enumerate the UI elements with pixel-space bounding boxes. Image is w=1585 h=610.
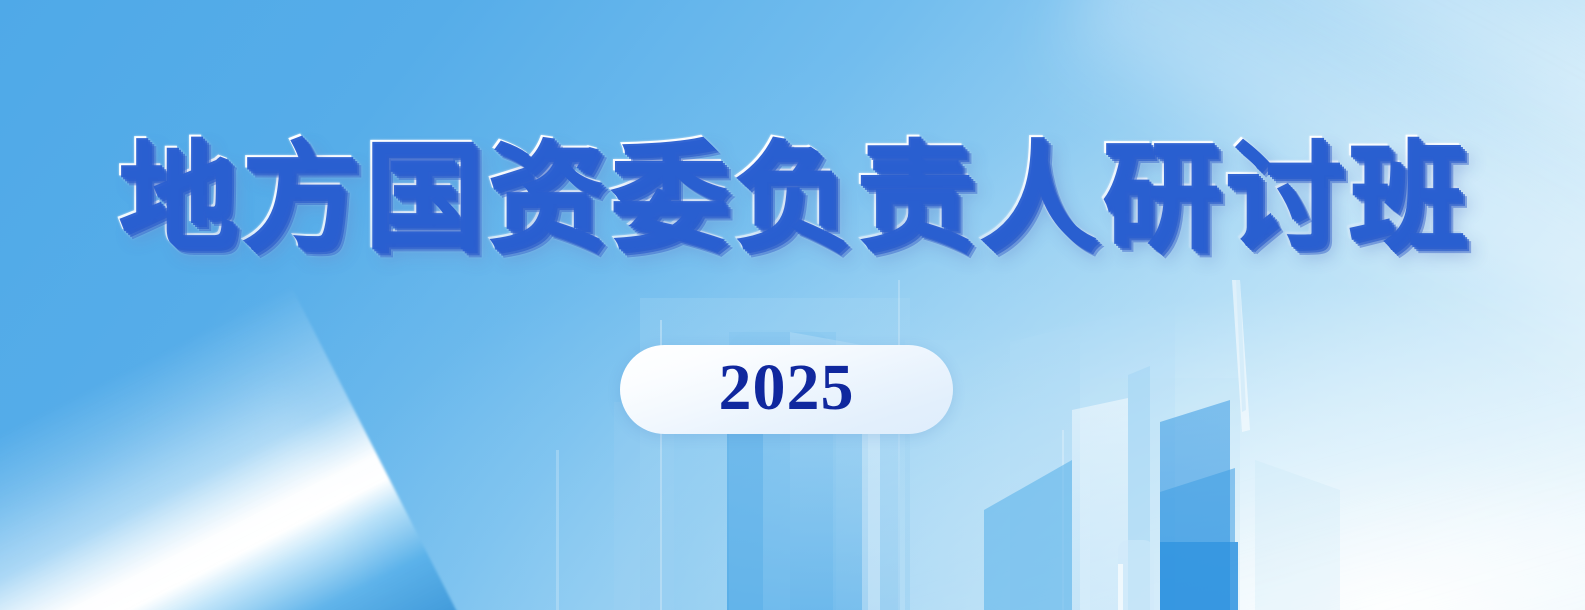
light-streak-bottom-left-glow-icon (0, 372, 411, 610)
banner-title: 地方国资委负责人研讨班 (116, 128, 1469, 263)
year-badge: 2025 (620, 345, 953, 434)
light-streak-bottom-left-icon (0, 286, 486, 610)
city-skyline-silhouette (0, 280, 1585, 610)
banner-title-container: 地方国资委负责人研讨班 (0, 128, 1585, 263)
light-streak-right-middle-icon (1038, 0, 1585, 561)
light-streak-bottom-right-icon (869, 381, 1585, 610)
conference-banner: 地方国资委负责人研讨班 2025 (0, 0, 1585, 610)
year-badge-label: 2025 (719, 355, 855, 425)
